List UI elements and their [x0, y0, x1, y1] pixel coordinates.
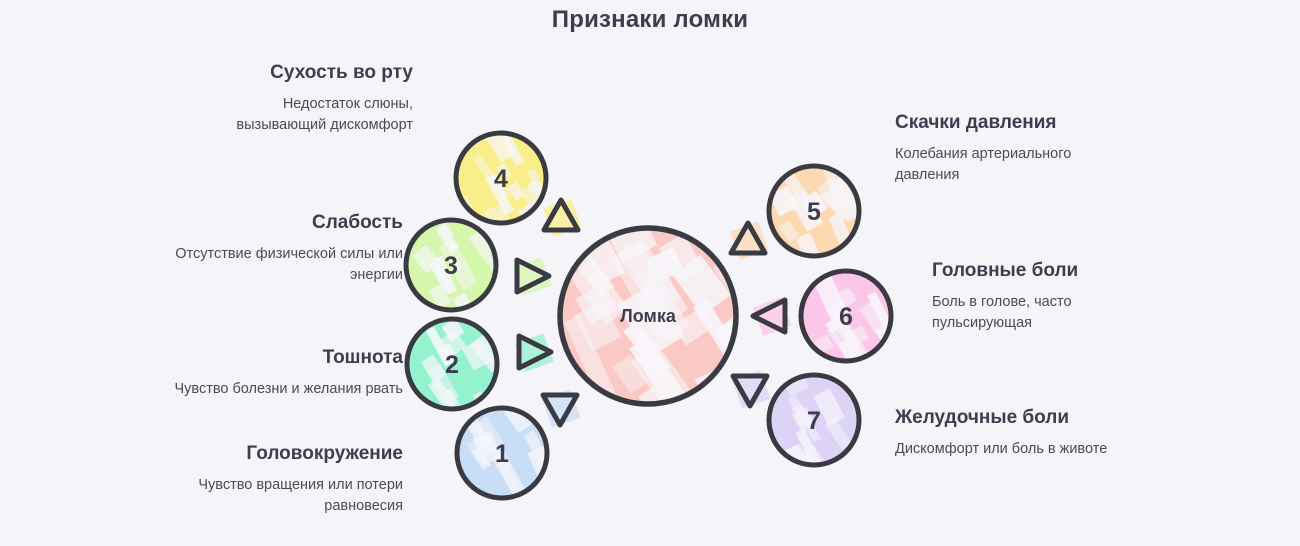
node-circle-4[interactable]: 4: [456, 126, 563, 246]
label-description: Колебания артериального давления: [895, 144, 1110, 186]
node-circle-7[interactable]: 7: [769, 375, 895, 494]
label-title: Головные боли: [932, 258, 1147, 283]
label-description: Недостаток слюны, вызывающий дискомфорт: [200, 94, 413, 136]
label-block-headaches: Головные боли Боль в голове, часто пульс…: [932, 258, 1147, 334]
arrow-6-icon: [753, 297, 792, 335]
node-number: 3: [444, 252, 458, 280]
arrow-4-icon: [543, 198, 581, 236]
node-number: 4: [494, 165, 508, 193]
node-number: 5: [807, 198, 821, 226]
brush-fill: [560, 215, 791, 470]
label-description: Чувство вращения или потери равновесия: [170, 475, 403, 517]
node-circle-6[interactable]: 6: [801, 271, 907, 401]
hub-node[interactable]: Ломка: [560, 215, 791, 470]
node-circle-2[interactable]: 2: [407, 318, 532, 429]
hub-label: Ломка: [620, 306, 677, 326]
page-title: Признаки ломки: [0, 6, 1300, 34]
arrow-1-icon: [542, 389, 580, 427]
arrow-3-icon: [513, 257, 551, 295]
node-circle-1[interactable]: 1: [457, 399, 580, 525]
node-number: 7: [807, 407, 821, 435]
brush-fill: [769, 163, 887, 276]
label-title: Слабость: [170, 210, 403, 235]
node-number: 2: [445, 351, 459, 379]
brush-fill: [769, 375, 895, 494]
arrow-7-icon: [732, 370, 770, 408]
brush-fill: [456, 126, 563, 246]
label-block-blood-pressure: Скачки давления Колебания артериального …: [895, 110, 1110, 186]
arrow-5-icon: [730, 221, 768, 259]
label-block-dry-mouth: Сухость во рту Недостаток слюны, вызываю…: [200, 60, 413, 136]
label-title: Головокружение: [170, 441, 403, 466]
brush-fill: [407, 318, 532, 429]
node-number: 1: [495, 440, 509, 468]
label-title: Скачки давления: [895, 110, 1110, 135]
label-block-weakness: Слабость Отсутствие физической силы или …: [170, 210, 403, 286]
label-description: Боль в голове, часто пульсирующая: [932, 292, 1147, 334]
label-block-nausea: Тошнота Чувство болезни и желания рвать: [170, 345, 403, 400]
brush-fill: [457, 399, 580, 525]
label-title: Сухость во рту: [200, 60, 413, 85]
label-description: Дискомфорт или боль в животе: [895, 439, 1110, 460]
arrow-2-icon: [515, 333, 553, 371]
label-title: Тошнота: [170, 345, 403, 370]
label-block-dizziness: Головокружение Чувство вращения или поте…: [170, 441, 403, 517]
node-number: 6: [839, 303, 853, 331]
label-block-stomach-pain: Желудочные боли Дискомфорт или боль в жи…: [895, 405, 1110, 460]
node-circle-5[interactable]: 5: [769, 163, 887, 276]
node-circle-3[interactable]: 3: [406, 211, 513, 343]
label-title: Желудочные боли: [895, 405, 1110, 430]
brush-fill: [406, 211, 513, 343]
brush-fill: [801, 271, 907, 401]
label-description: Чувство болезни и желания рвать: [170, 379, 403, 400]
label-description: Отсутствие физической силы или энергии: [170, 244, 403, 286]
